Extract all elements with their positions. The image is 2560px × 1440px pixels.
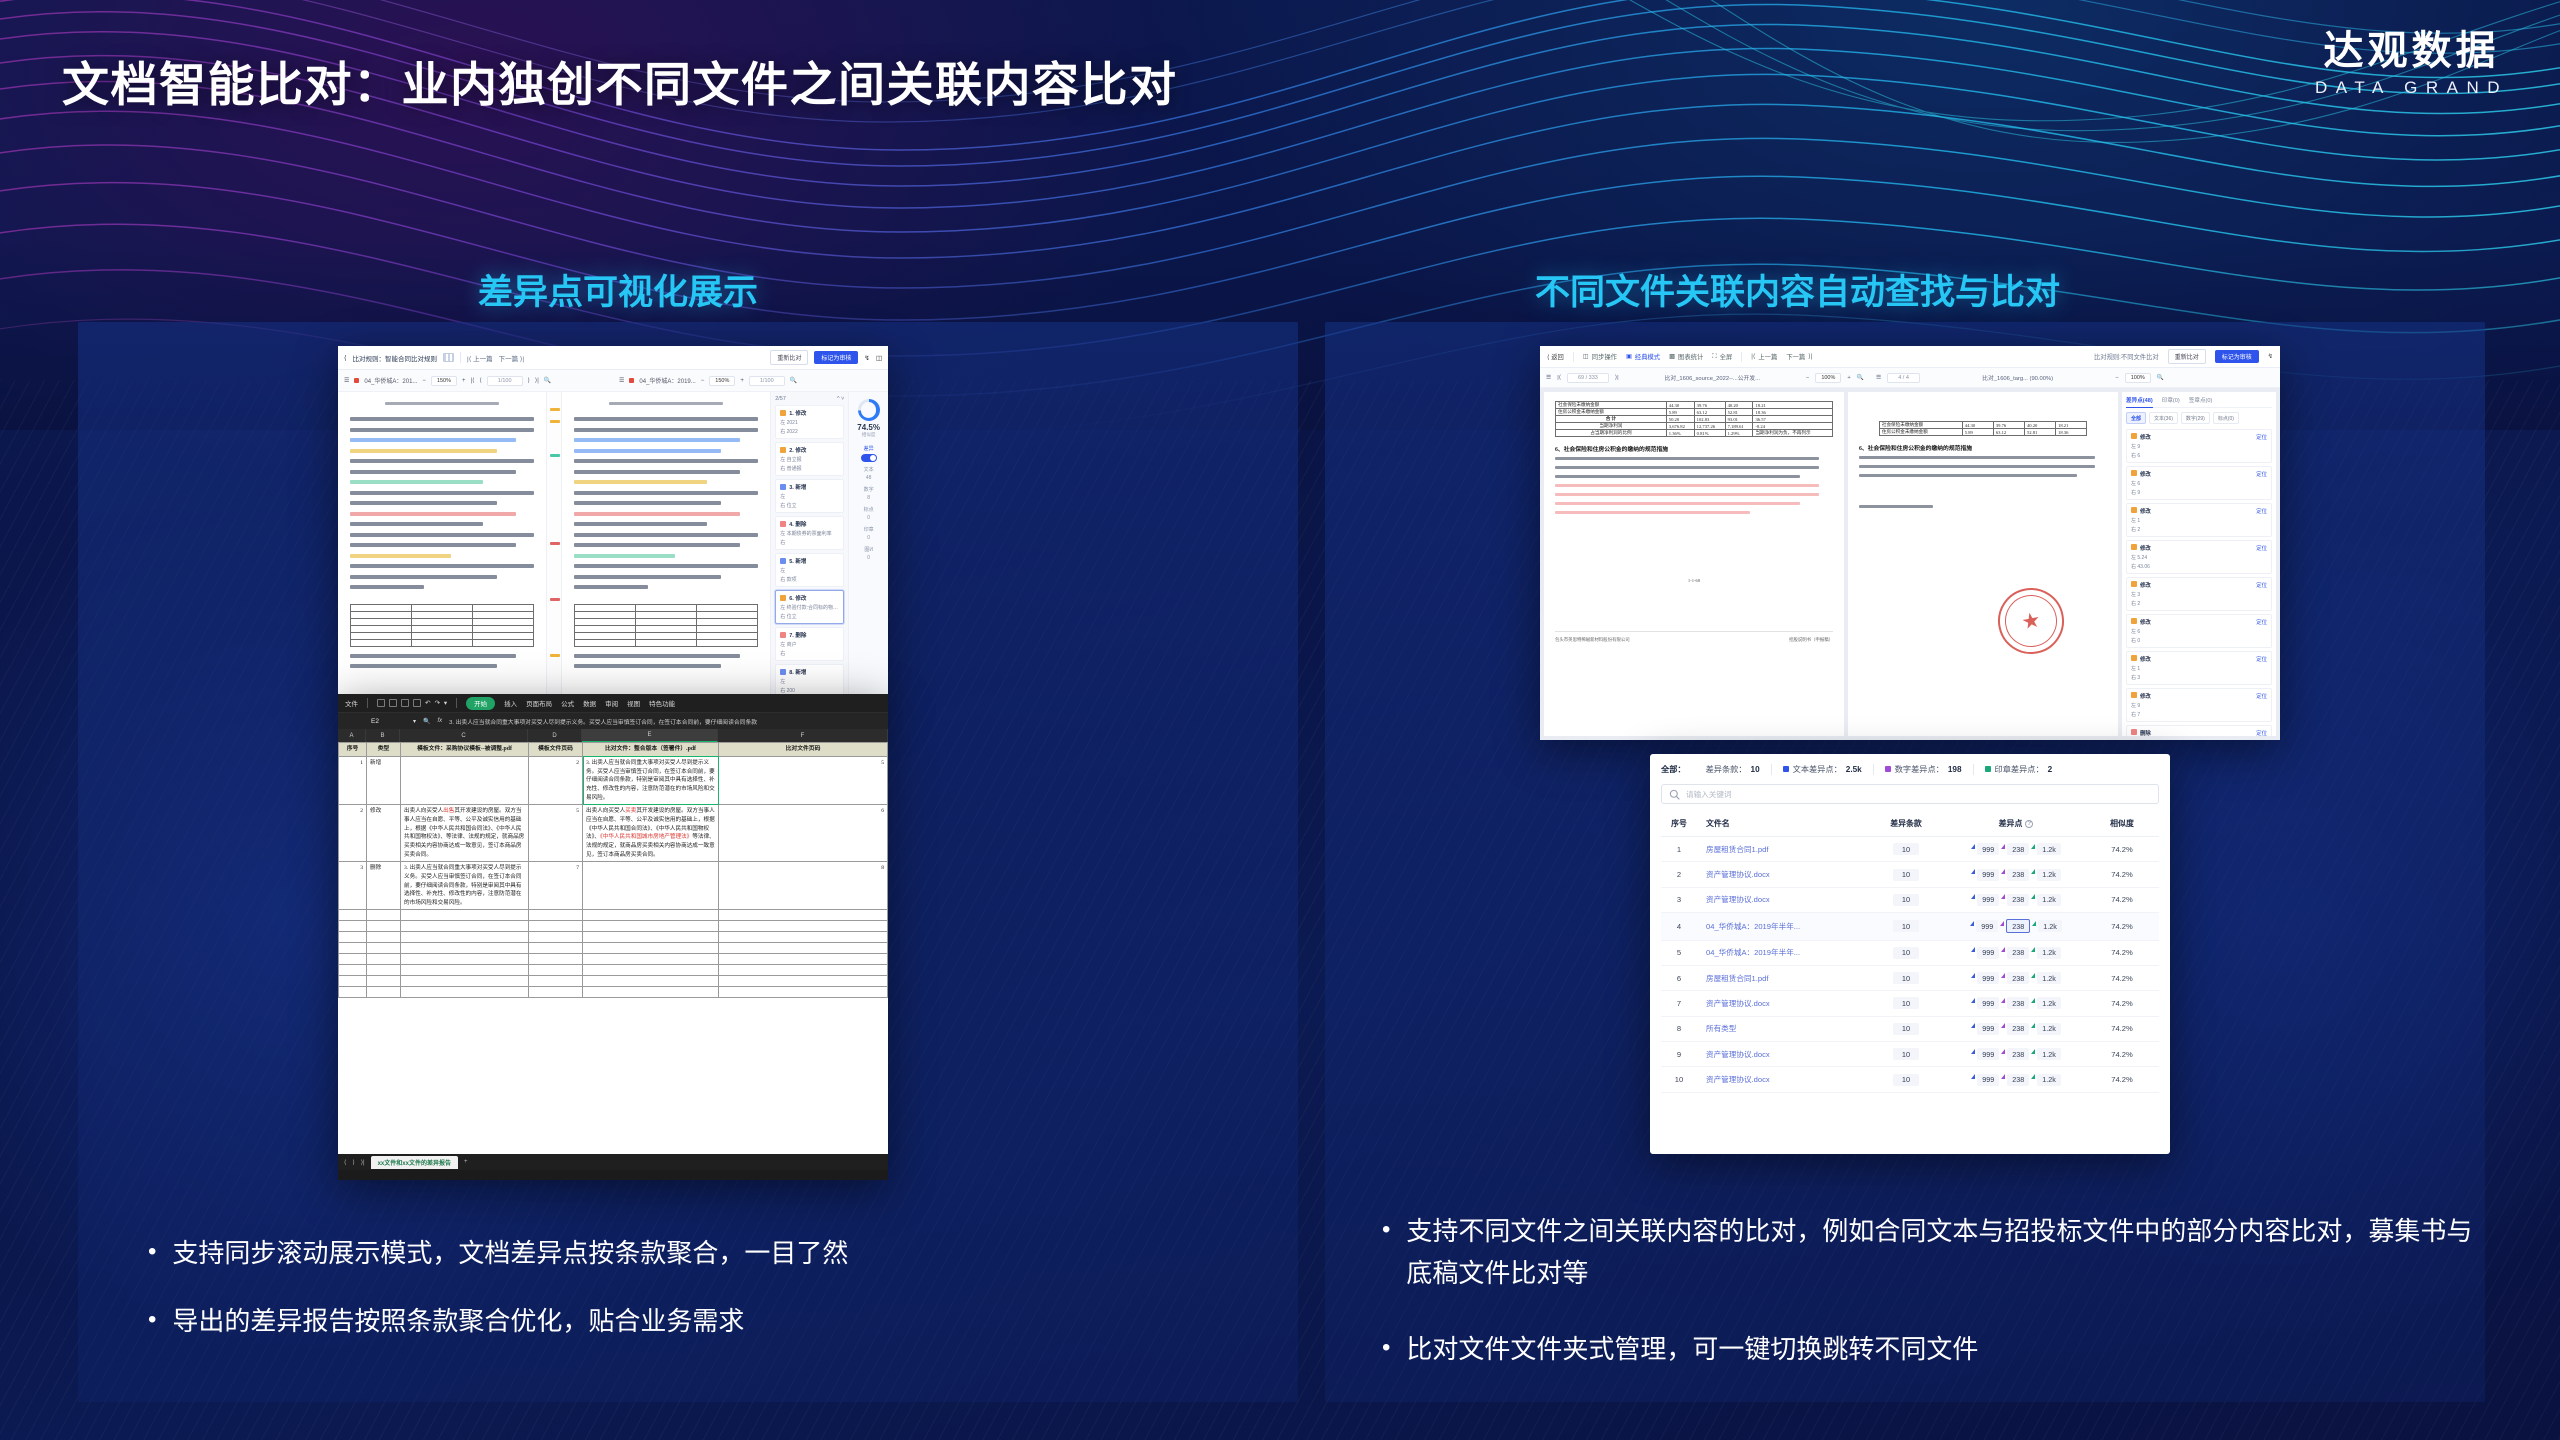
number-diff-count[interactable]: 238 — [2007, 843, 2029, 855]
xf-left-page[interactable]: 69 / 333 — [1567, 373, 1609, 383]
tab-diff-points[interactable]: 差异点(48) — [2126, 396, 2153, 408]
diff-card-index: 1. 修改 — [789, 409, 806, 417]
metric-value: 48 — [849, 475, 888, 483]
crossfile-diff-tabs[interactable]: 差异点(48) 印章(0) 签章点(0) — [2126, 396, 2272, 408]
ribbon-tab-review[interactable]: 审阅 — [605, 698, 618, 708]
sheet-header-row: 序号 类型 模板文件：采购协议模板--被调整.pdf 模板文件页码 比对文件：整… — [339, 743, 888, 757]
table-row[interactable]: 1房屋租赁合同1.pdf109992381.2k74.2% — [1661, 837, 2159, 862]
diff-filter-toggle[interactable] — [861, 454, 877, 462]
zoom-in-button-2[interactable]: + — [740, 378, 744, 384]
left-bullet-list: • 支持同步滚动展示模式，文档差异点按条款聚合，一目了然 • 导出的差异报告按照… — [148, 1232, 1228, 1368]
cell-diff-terms: 10 — [1865, 887, 1947, 912]
cell-file-name[interactable]: 资产管理协议.docx — [1697, 1042, 1865, 1067]
prev-item-button[interactable]: |⟨ 上一篇 — [1751, 352, 1777, 361]
left-page-indicator[interactable]: 1/100 — [487, 376, 523, 386]
cell-diff-points[interactable]: 9992381.2k — [1947, 1067, 2085, 1092]
xf-left-file[interactable]: 比对_1606_source_2022--...公开发... — [1625, 373, 1800, 382]
xf-diff-type: 修改 — [2131, 618, 2151, 626]
cell-diff-points[interactable]: 9992381.2k — [1947, 1016, 2085, 1041]
xf-diff-card[interactable]: 修改定位左 1右 2 — [2126, 503, 2272, 537]
cell-similarity: 74.2% — [2085, 1067, 2159, 1092]
seal-diff-count[interactable]: 1.2k — [2037, 1023, 2061, 1035]
chip-all[interactable]: 全部 — [2126, 412, 2146, 424]
cell-diff-points[interactable]: 9992381.2k — [1947, 913, 2085, 940]
diff-card[interactable]: 8. 新增左 右 200 — [775, 664, 844, 698]
text-diff-count[interactable]: 999 — [1977, 972, 1999, 984]
diff-old-value: 左 本期债券的票面利率 — [780, 530, 839, 537]
sheet-empty-row[interactable] — [339, 965, 888, 976]
print-preview-icon[interactable] — [389, 699, 397, 707]
seal-diff-color-dot — [1985, 766, 1991, 772]
right-file-name[interactable]: 04_华侨城A：2019... — [639, 376, 695, 385]
metric-item[interactable]: 文本48 — [849, 467, 888, 482]
diff-filter-label[interactable]: 差异 — [849, 445, 888, 452]
xf-first-page[interactable]: |⟨ — [1557, 375, 1561, 381]
xf-mark-reviewed-button[interactable]: 标记为审核 — [2215, 350, 2259, 363]
sheet-empty-row[interactable] — [339, 943, 888, 954]
diff-card-list[interactable]: 1. 修改左 2021右 20222. 修改左 自立报右 普通报3. 新增左 右… — [775, 405, 844, 708]
save-icon[interactable] — [377, 699, 385, 707]
export-icon[interactable] — [413, 699, 421, 707]
xf-diff-card-head: 修改定位 — [2131, 618, 2267, 626]
ribbon-tab-special[interactable]: 特色功能 — [649, 698, 675, 708]
diff-card[interactable]: 4. 删除左 本期债券的票面利率右 — [775, 516, 844, 550]
xf-outline-icon-2[interactable]: ☰ — [1876, 375, 1881, 381]
pdf-file-icon-2 — [629, 378, 634, 383]
crossfile-diff-panel[interactable]: 差异点(48) 印章(0) 签章点(0) 全部 文本(36) 数字(29) 标点… — [2122, 392, 2276, 736]
xf-right-file[interactable]: 比对_1606_targ... (90.00%) — [1926, 373, 2109, 382]
cell-type[interactable]: 删除 — [367, 862, 401, 910]
xf-zoom-in[interactable]: + — [1847, 375, 1850, 381]
brand-logo: 达观数据 DATA GRAND — [2315, 28, 2508, 98]
diff-stepper-icons[interactable]: ^ ˅ — [837, 396, 844, 402]
number-diff-count[interactable]: 238 — [2007, 869, 2029, 881]
number-diff-flag-icon — [2001, 869, 2005, 874]
sheet-nav-next-icon[interactable]: ⟩ — [352, 1159, 354, 1166]
xf-diff-new: 右 43.06 — [2131, 563, 2267, 570]
bullet-text: 支持同步滚动展示模式，文档差异点按条款聚合，一目了然 — [172, 1232, 1228, 1274]
xf-locate-link[interactable]: 定位 — [2256, 729, 2267, 736]
table-row[interactable]: 6房屋租赁合同1.pdf109992381.2k74.2% — [1661, 965, 2159, 990]
xf-diff-card[interactable]: 修改定位左 5.24右 43.06 — [2126, 540, 2272, 574]
cell-no[interactable]: 3 — [339, 862, 367, 910]
ribbon-tab-formula[interactable]: 公式 — [561, 698, 574, 708]
diff-card[interactable]: 3. 新增左 右 位立 — [775, 479, 844, 513]
tab-seals[interactable]: 印章(0) — [2162, 396, 2180, 404]
xf-diff-new: 右 9 — [2131, 489, 2267, 496]
metric-value: 8 — [849, 495, 888, 503]
seal-diff-count[interactable]: 1.2k — [2037, 843, 2061, 855]
sheet-empty-row[interactable] — [339, 954, 888, 965]
next-doc-button[interactable]: 下一篇 ⟩| — [499, 353, 525, 363]
xf-locate-link[interactable]: 定位 — [2256, 544, 2267, 552]
th-no[interactable]: 序号 — [1661, 811, 1697, 837]
cell-file-name[interactable]: 资产管理协议.docx — [1697, 991, 1865, 1016]
crossfile-diff-cards[interactable]: 修改定位左 9右 6修改定位左 6右 9修改定位左 1右 2修改定位左 5.24… — [2126, 429, 2272, 736]
xf-right-zoom[interactable]: 100% — [2125, 373, 2151, 383]
text-diff-count[interactable]: 999 — [1976, 920, 1998, 932]
sheet-row[interactable]: 1新增23. 出卖人应当就合同重大事项对买受人尽到提示义务。买受人应当审慎签订合… — [339, 756, 888, 804]
chip-num[interactable]: 数字(29) — [2181, 412, 2210, 424]
diff-list-panel[interactable]: 2/57 ^ ˅ 1. 修改左 2021右 20222. 修改左 自立报右 普通… — [771, 392, 849, 708]
xf-locate-link[interactable]: 定位 — [2256, 507, 2267, 515]
col-header-F[interactable]: F — [718, 729, 888, 742]
xf-diff-old: 左 6 — [2131, 628, 2267, 635]
cell-row-no: 10 — [1661, 1067, 1697, 1092]
ribbon-tab-data[interactable]: 数据 — [583, 698, 596, 708]
quick-access-toolbar[interactable]: ↶ ↷ ▾ — [377, 699, 447, 707]
tool-sync-scroll[interactable]: ◫ 同步操作 — [1583, 352, 1617, 361]
xf-outline-icon[interactable]: ☰ — [1546, 375, 1551, 381]
text-diff-count[interactable]: 999 — [1977, 894, 1999, 906]
undo-icon[interactable]: ↶ — [425, 699, 430, 707]
recompare-button[interactable]: 重新比对 — [770, 350, 808, 365]
cell-compare-page[interactable]: 6 — [719, 805, 888, 862]
crossfile-left-document[interactable]: 社会保险未缴纳金额44.3039.7640.2018.21 住房公积金未缴纳金额… — [1544, 392, 1844, 736]
cell-diff-points[interactable]: 9992381.2k — [1947, 991, 2085, 1016]
cell-diff-points[interactable]: 9992381.2k — [1947, 837, 2085, 862]
xf-diff-new: 右 2 — [2131, 526, 2267, 533]
cell-no[interactable]: 2 — [339, 805, 367, 862]
tab-sign-points[interactable]: 签章点(0) — [2189, 396, 2213, 404]
print-icon[interactable] — [401, 699, 409, 707]
xf-last-page[interactable]: ⟩| — [1615, 375, 1619, 381]
chip-punct[interactable]: 标点(0) — [2213, 412, 2239, 424]
table-row[interactable]: 9资产管理协议.docx109992381.2k74.2% — [1661, 1042, 2159, 1067]
sheet-nav-first-icon[interactable]: ⟨ — [344, 1159, 346, 1166]
cell-diff-points[interactable]: 9992381.2k — [1947, 887, 2085, 912]
table-row[interactable]: 7资产管理协议.docx109992381.2k74.2% — [1661, 991, 2159, 1016]
number-diff-flag-icon — [2001, 844, 2005, 849]
text-diff-count[interactable]: 999 — [1977, 947, 1999, 959]
diff-index-header: 2/57 ^ ˅ — [775, 396, 844, 402]
bullet-item: • 支持不同文件之间关联内容的比对，例如合同文本与招投标文件中的部分内容比对，募… — [1382, 1210, 2482, 1294]
th-diffpoints[interactable]: 差异点? — [1947, 811, 2085, 837]
cell-no[interactable]: 1 — [339, 756, 367, 804]
tool-fullscreen[interactable]: ⛶ 全屏 — [1712, 352, 1732, 361]
sheet-empty-row[interactable] — [339, 932, 888, 943]
cell-template-page[interactable]: 5 — [529, 805, 583, 862]
outline-icon[interactable]: ☰ — [344, 377, 349, 384]
table-row[interactable]: 2资产管理协议.docx109992381.2k74.2% — [1661, 862, 2159, 887]
seal-diff-count[interactable]: 1.2k — [2037, 894, 2061, 906]
tool-chart-stats[interactable]: ▩ 图表统计 — [1669, 352, 1703, 361]
number-diff-count[interactable]: 238 — [2007, 894, 2029, 906]
text-diff-count[interactable]: 999 — [1977, 997, 1999, 1009]
cell-diff-points[interactable]: 9992381.2k — [1947, 1042, 2085, 1067]
compare-body: 2/57 ^ ˅ 1. 修改左 2021右 20222. 修改左 自立报右 普通… — [338, 392, 888, 708]
table-row[interactable]: 404_华侨城A：2019年半年...109992381.2k74.2% — [1661, 913, 2159, 940]
seal-diff-count[interactable]: 1.2k — [2037, 1074, 2061, 1086]
cell-similarity: 74.2% — [2085, 940, 2159, 965]
file-table-body[interactable]: 1房屋租赁合同1.pdf109992381.2k74.2%2资产管理协议.doc… — [1661, 837, 2159, 1093]
spreadsheet-grid[interactable]: 序号 类型 模板文件：采购协议模板--被调整.pdf 模板文件页码 比对文件：整… — [338, 742, 888, 1154]
th-terms[interactable]: 差异条款 — [1865, 811, 1947, 837]
diff-card-title: 3. 新增 — [780, 483, 839, 491]
text-diff-count[interactable]: 999 — [1977, 869, 1999, 881]
xf-section-title: 6、社会保险和住房公积金的缴纳的规范措施 — [1555, 444, 1833, 453]
seal-diff-flag-icon — [2031, 1074, 2035, 1079]
text-diff-count[interactable]: 999 — [1977, 1023, 1999, 1035]
cell-diff-terms: 10 — [1865, 913, 1947, 940]
metric-item[interactable]: 数字8 — [849, 487, 888, 502]
name-box-chevron-icon[interactable]: ▾ — [413, 718, 416, 725]
sheet-tab[interactable]: xx文件和xx文件的差异报告 — [371, 1156, 458, 1169]
ribbon-tab-insert[interactable]: 插入 — [504, 698, 517, 708]
xf-diff-card[interactable]: 修改定位左 9右 7 — [2126, 688, 2272, 722]
sheet-body[interactable]: 1新增23. 出卖人应当就合同重大事项对买受人尽到提示义务。买受人应当审慎签订合… — [339, 756, 888, 998]
number-diff-count[interactable]: 238 — [2006, 919, 2030, 933]
xf-diff-card[interactable]: 删除定位左 公司从 2021 年开始逐渐为全部员工缴纳社保保险和住房公积金,截至… — [2126, 725, 2272, 736]
th-similarity[interactable]: 相似度 — [2085, 811, 2159, 837]
cell-file-name[interactable]: 资产管理协议.docx — [1697, 887, 1865, 912]
back-button[interactable]: ⟨ 返回 — [1547, 352, 1564, 361]
metric-item[interactable]: 标点0 — [849, 507, 888, 522]
cell-compare-text[interactable] — [583, 862, 719, 910]
number-diff-count[interactable]: 238 — [2007, 997, 2029, 1009]
xf-diff-card-head: 修改定位 — [2131, 655, 2267, 663]
formula-input[interactable]: 3. 出卖人应当就合同重大事项对买受人尽到提示义务。买受人应当审慎签订合同，在签… — [449, 717, 882, 726]
fx-icon[interactable]: fx — [438, 718, 443, 724]
name-box[interactable]: E2 — [344, 718, 406, 725]
xf-search-icon-2[interactable]: 🔍 — [2157, 375, 2164, 381]
seal-diff-count[interactable]: 1.2k — [2038, 920, 2062, 932]
ribbon-tab-layout[interactable]: 页面布局 — [526, 698, 552, 708]
cell-diff-points[interactable]: 9992381.2k — [1947, 965, 2085, 990]
sheet-empty-row[interactable] — [339, 987, 888, 998]
xf-diff-card[interactable]: 修改定位左 3右 2 — [2126, 577, 2272, 611]
ribbon-tab-home[interactable]: 开始 — [466, 697, 495, 710]
cell-file-name[interactable]: 房屋租赁合同1.pdf — [1697, 837, 1865, 862]
xf-zoom-out[interactable]: − — [1806, 375, 1809, 381]
xf-diff-new: 右 3 — [2131, 674, 2267, 681]
cell-compare-page[interactable]: 5 — [719, 756, 888, 804]
xf-zoom-out-2[interactable]: − — [2115, 375, 2118, 381]
xf-locate-link[interactable]: 定位 — [2256, 618, 2267, 626]
text-diff-count[interactable]: 999 — [1977, 1048, 1999, 1060]
next-item-button[interactable]: 下一篇 ⟩| — [1786, 352, 1812, 361]
number-diff-count[interactable]: 238 — [2007, 1074, 2029, 1086]
next-page-button[interactable]: ⟩ — [528, 377, 530, 384]
diff-type-filter[interactable]: 全部 文本(36) 数字(29) 标点(0) — [2126, 412, 2272, 424]
insert-function-search-icon[interactable]: 🔍 — [423, 718, 430, 725]
xf-locate-link[interactable]: 定位 — [2256, 433, 2267, 441]
table-row[interactable]: 10资产管理协议.docx109992381.2k74.2% — [1661, 1067, 2159, 1092]
xf-left-zoom[interactable]: 100% — [1815, 373, 1841, 383]
cell-template-text[interactable] — [401, 756, 529, 804]
sheet-nav-last-icon[interactable]: ⟩| — [361, 1159, 365, 1166]
number-diff-flag-icon — [2001, 894, 2005, 899]
text-diff-flag-icon — [1971, 947, 1975, 952]
diff-type-icon — [780, 595, 786, 601]
stat-seal-diffs: 印章差异点：2 — [1974, 763, 2064, 775]
xf-locate-link[interactable]: 定位 — [2256, 581, 2267, 589]
number-diff-count[interactable]: 238 — [2007, 1048, 2029, 1060]
metric-item[interactable]: 印章0 — [849, 527, 888, 542]
ribbon-tab-view[interactable]: 视图 — [627, 698, 640, 708]
add-sheet-button[interactable]: + — [464, 1159, 468, 1165]
cell-similarity: 74.2% — [2085, 965, 2159, 990]
left-page-table — [350, 604, 534, 647]
col-header-B[interactable]: B — [366, 729, 400, 742]
seal-diff-count[interactable]: 1.2k — [2037, 947, 2061, 959]
number-diff-count[interactable]: 238 — [2007, 972, 2029, 984]
xf-diff-type-icon — [2131, 692, 2137, 698]
table-row[interactable]: 3资产管理协议.docx109992381.2k74.2% — [1661, 887, 2159, 912]
similarity-value: 74.5% — [849, 423, 888, 432]
cell-template-page[interactable]: 2 — [529, 756, 583, 804]
xf-recompare-button[interactable]: 重新比对 — [2168, 349, 2206, 364]
col-header-E[interactable]: E — [582, 729, 718, 742]
tool-classic-mode[interactable]: ▣ 经典模式 — [1626, 352, 1660, 361]
col-header-C[interactable]: C — [400, 729, 528, 742]
prev-doc-button[interactable]: |⟨ 上一篇 — [467, 353, 493, 363]
mark-reviewed-button[interactable]: 标记为审核 — [814, 351, 858, 364]
xf-diff-old: 左 1 — [2131, 665, 2267, 672]
left-document-page[interactable] — [338, 392, 547, 708]
xf-locate-link[interactable]: 定位 — [2256, 470, 2267, 478]
cell-file-name[interactable]: 房屋租赁合同1.pdf — [1697, 965, 1865, 990]
seal-diff-count[interactable]: 1.2k — [2037, 1048, 2061, 1060]
cell-diff-points[interactable]: 9992381.2k — [1947, 940, 2085, 965]
cell-file-name[interactable]: 资产管理协议.docx — [1697, 1067, 1865, 1092]
prev-page-button[interactable]: ⟨ — [479, 377, 481, 384]
table-row[interactable]: 8所有类型109992381.2k74.2% — [1661, 1016, 2159, 1041]
zoom-in-button[interactable]: + — [462, 378, 466, 384]
customize-chevron-icon[interactable]: ▾ — [444, 699, 447, 707]
seal-diff-count[interactable]: 1.2k — [2037, 972, 2061, 984]
cell-type[interactable]: 新增 — [367, 756, 401, 804]
diff-minimap[interactable] — [547, 392, 562, 708]
zoom-out-button-2[interactable]: − — [701, 378, 705, 384]
sheet-empty-row[interactable] — [339, 976, 888, 987]
panel-toggle-icon[interactable]: ◫ — [876, 354, 882, 362]
sheet-empty-row[interactable] — [339, 910, 888, 921]
ribbon-tab-file[interactable]: 文件 — [345, 698, 358, 708]
cell-file-name[interactable]: 所有类型 — [1697, 1016, 1865, 1041]
xf-diff-card[interactable]: 修改定位左 1右 3 — [2126, 651, 2272, 685]
diff-card[interactable]: 5. 新增左 右 款项 — [775, 553, 844, 587]
divider — [460, 352, 461, 363]
diff-type-icon — [780, 447, 786, 453]
xf-diff-type-icon — [2131, 507, 2137, 513]
right-page-table — [574, 604, 758, 647]
file-list-screenshot: 全部： 差异条款：10 文本差异点：2.5k 数字差异点：198 印章差异点：2 — [1650, 754, 2170, 1154]
diff-statistics-bar: 全部： 差异条款：10 文本差异点：2.5k 数字差异点：198 印章差异点：2 — [1650, 754, 2170, 780]
right-bullet-list: • 支持不同文件之间关联内容的比对，例如合同文本与招投标文件中的部分内容比对，募… — [1382, 1210, 2482, 1396]
cell-diff-points[interactable]: 9992381.2k — [1947, 862, 2085, 887]
download-icon[interactable]: ↯ — [864, 354, 869, 362]
cell-diff-terms: 10 — [1865, 1067, 1947, 1092]
zoom-out-button[interactable]: − — [422, 378, 426, 384]
diff-card[interactable]: 1. 修改左 2021右 2022 — [775, 405, 844, 439]
search-icon[interactable]: 🔍 — [544, 377, 551, 384]
th-filename[interactable]: 文件名 — [1697, 811, 1865, 837]
layout-grid-icon[interactable] — [443, 353, 454, 362]
xf-diff-type: 修改 — [2131, 507, 2151, 515]
xf-diff-type-icon — [2131, 655, 2137, 661]
xf-locate-link[interactable]: 定位 — [2256, 692, 2267, 700]
cell-template-text[interactable]: 3. 出卖人应当就合同重大事项对买受人尽到提示义务。买受人应当审慎签订合同，在签… — [401, 862, 529, 910]
col-header-D[interactable]: D — [528, 729, 582, 742]
diff-old-value: 左 — [780, 493, 839, 500]
text-diff-count[interactable]: 999 — [1977, 1074, 1999, 1086]
right-zoom-value[interactable]: 150% — [709, 376, 735, 386]
metric-label: 文本 — [849, 467, 888, 475]
cell-type[interactable]: 修改 — [367, 805, 401, 862]
number-diff-count[interactable]: 238 — [2007, 947, 2029, 959]
seal-diff-flag-icon — [2031, 998, 2035, 1003]
first-page-button[interactable]: |⟨ — [471, 377, 475, 384]
xf-search-icon[interactable]: 🔍 — [1857, 375, 1864, 381]
sheet-row[interactable]: 3删除3. 出卖人应当就合同重大事项对买受人尽到提示义务。买受人应当审慎签订合同… — [339, 862, 888, 910]
help-icon[interactable]: ? — [2025, 820, 2033, 828]
sheet-row[interactable]: 2修改出卖人向买受人出售其开发建设的房屋。双方当事人应当在自愿、平等、公平及诚实… — [339, 805, 888, 862]
number-diff-flag-icon — [2000, 921, 2004, 926]
metric-item[interactable]: 图И0 — [849, 547, 888, 562]
bullet-item: • 支持同步滚动展示模式，文档差异点按条款聚合，一目了然 — [148, 1232, 1228, 1274]
seal-diff-count[interactable]: 1.2k — [2037, 997, 2061, 1009]
xf-diff-type: 修改 — [2131, 692, 2151, 700]
diff-card[interactable]: 6. 修改左 终验付款:合同标的物将验合格之后,由甲方收到乙方提供的如下单...… — [775, 590, 844, 624]
xf-diff-card[interactable]: 修改定位左 9右 6 — [2126, 429, 2272, 463]
xf-right-page[interactable]: 4 / 4 — [1887, 373, 1920, 383]
diff-card[interactable]: 2. 修改左 自立报右 普通报 — [775, 442, 844, 476]
sheet-empty-row[interactable] — [339, 921, 888, 932]
cell-file-name[interactable]: 04_华侨城A：2019年半年... — [1697, 940, 1865, 965]
seal-diff-count[interactable]: 1.2k — [2037, 869, 2061, 881]
text-diff-count[interactable]: 999 — [1977, 843, 1999, 855]
text-diff-flag-icon — [1971, 1023, 1975, 1028]
left-zoom-value[interactable]: 150% — [431, 376, 457, 386]
table-row[interactable]: 504_华侨城A：2019年半年...109992381.2k74.2% — [1661, 940, 2159, 965]
cell-template-page[interactable]: 7 — [529, 862, 583, 910]
right-doc-controls: ☰ 04_华侨城A：2019... − 150% + 1/100 🔍 — [613, 376, 866, 386]
left-file-name[interactable]: 04_华侨城A：201... — [364, 376, 417, 385]
keyword-search-box[interactable]: 请输入关键词 — [1661, 784, 2159, 804]
cell-compare-page[interactable]: 8 — [719, 862, 888, 910]
pdf-file-icon — [354, 378, 359, 383]
crossfile-right-document[interactable]: 社会保险未缴纳金额44.3039.7640.2018.21 住房公积金未缴纳金额… — [1848, 392, 2118, 736]
page-title: 文档智能比对：业内独创不同文件之间关联内容比对 — [62, 46, 1178, 115]
xf-download-icon[interactable]: ↯ — [2268, 353, 2273, 360]
diff-type-icon — [780, 669, 786, 675]
cell-file-name[interactable]: 资产管理协议.docx — [1697, 862, 1865, 887]
xf-diff-old: 左 6 — [2131, 480, 2267, 487]
metric-list: 文本48数字8标点0印章0图И0 — [849, 467, 888, 562]
xf-diff-card-head: 删除定位 — [2131, 729, 2267, 736]
outline-icon-2[interactable]: ☰ — [619, 377, 624, 384]
cell-file-name[interactable]: 04_华侨城A：2019年半年... — [1697, 913, 1865, 940]
cell-compare-text[interactable]: 3. 出卖人应当就合同重大事项对买受人尽到提示义务。买受人应当审慎签订合同，在签… — [583, 756, 719, 804]
diff-card[interactable]: 7. 删除左 商户右 — [775, 627, 844, 661]
number-diff-count[interactable]: 238 — [2007, 1023, 2029, 1035]
cell-compare-text[interactable]: 出卖人向买受人买卖其开发建设的房屋。双方当事人应当在自愿、平等、公平及诚实信用的… — [583, 805, 719, 862]
seal-diff-flag-icon — [2031, 1049, 2035, 1054]
cell-template-text[interactable]: 出卖人向买受人出售其开发建设的房屋。双方当事人应当在自愿、平等、公平及诚实信用的… — [401, 805, 529, 862]
back-chevron-icon[interactable]: ⟨ — [344, 354, 347, 362]
chip-text[interactable]: 文本(36) — [2149, 412, 2178, 424]
search-icon-2[interactable]: 🔍 — [790, 377, 797, 384]
right-page-indicator[interactable]: 1/100 — [749, 376, 785, 386]
xf-diff-card[interactable]: 修改定位左 6右 9 — [2126, 466, 2272, 500]
right-document-page[interactable] — [562, 392, 771, 708]
xf-locate-link[interactable]: 定位 — [2256, 655, 2267, 663]
col-header-A[interactable]: A — [338, 729, 366, 742]
last-page-button[interactable]: ⟩| — [535, 377, 539, 384]
xf-diff-card[interactable]: 修改定位左 6右 0 — [2126, 614, 2272, 648]
redo-icon[interactable]: ↷ — [434, 699, 439, 707]
